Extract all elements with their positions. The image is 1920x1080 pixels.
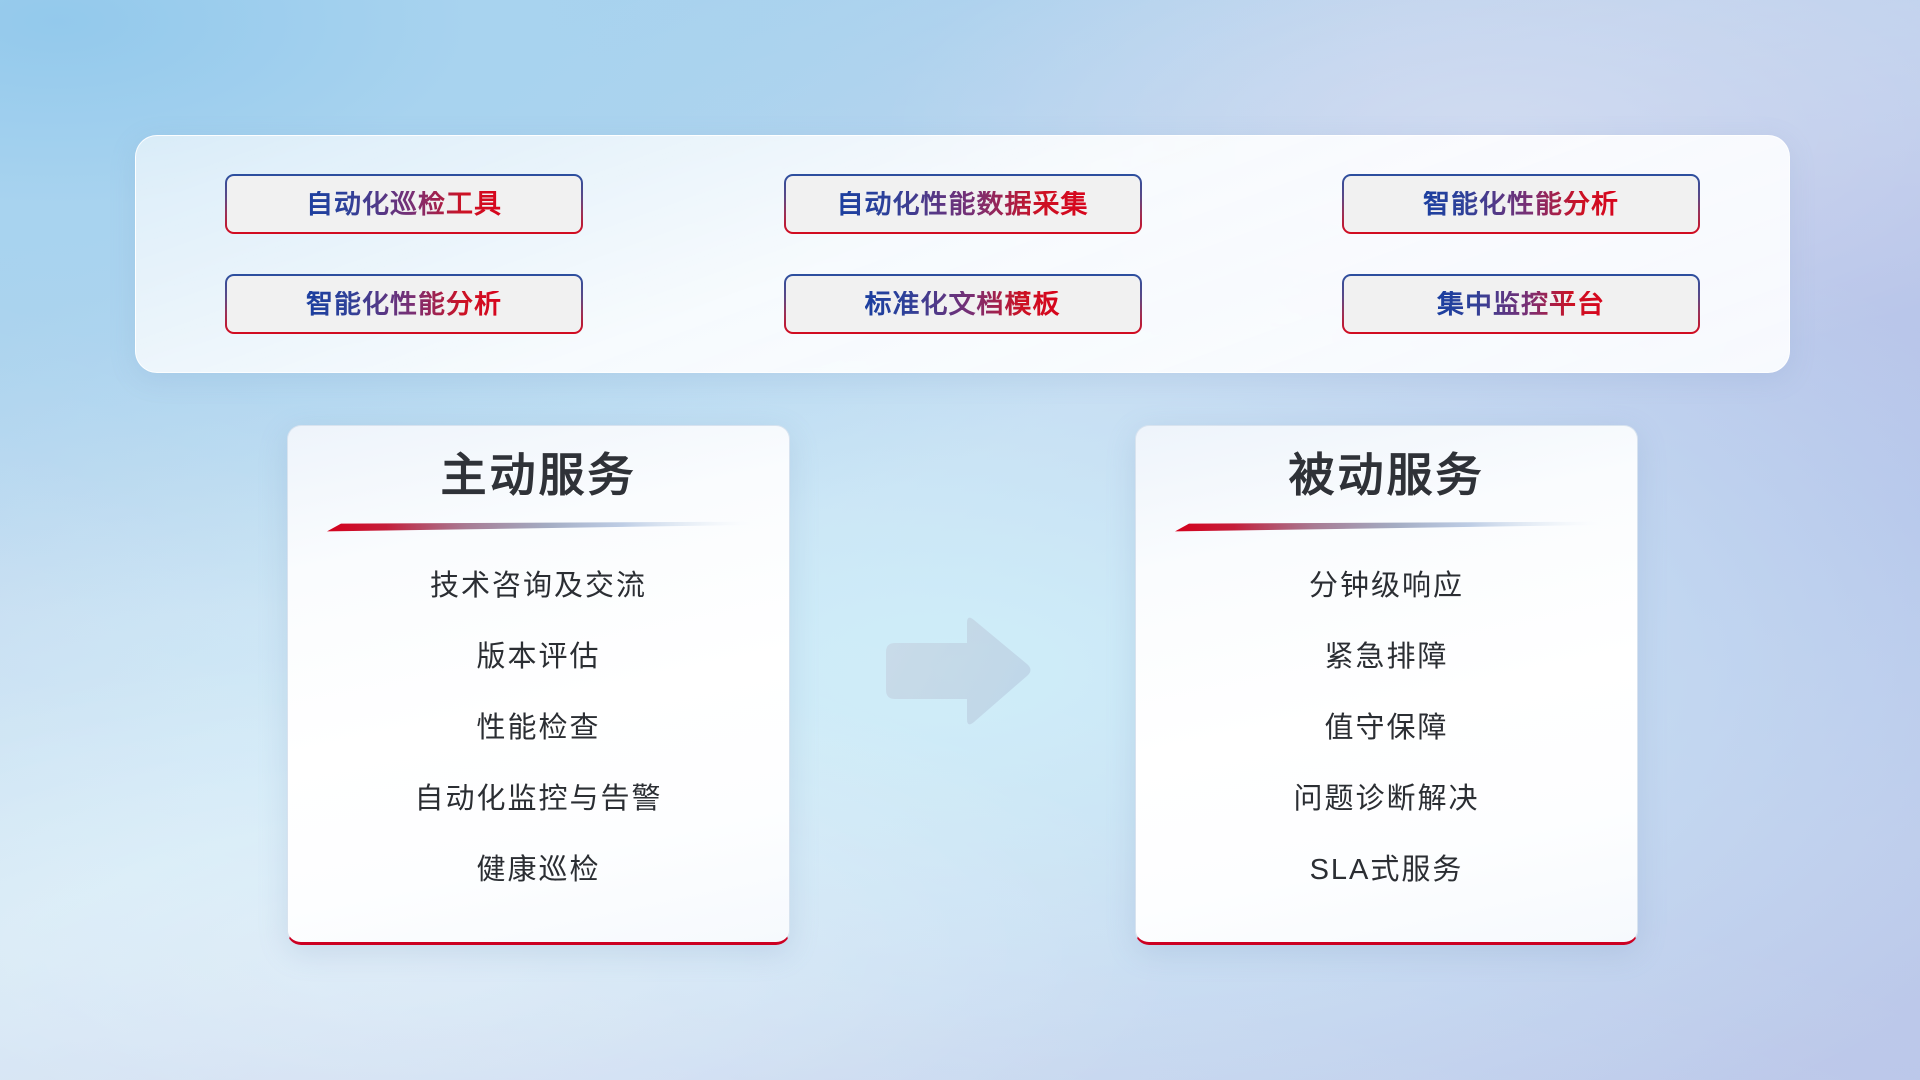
service-card-proactive[interactable]: 主动服务 技术咨询及交流 版本评估 性能检查 自动化监控与告警 健康巡检 <box>287 425 790 945</box>
capability-pill-4[interactable]: 智能化性能分析 <box>225 274 583 334</box>
service-item-list: 技术咨询及交流 版本评估 性能检查 自动化监控与告警 健康巡检 <box>288 551 789 906</box>
arrow-right-icon <box>876 612 1036 732</box>
capability-pill-label: 智能化性能分析 <box>1423 191 1619 218</box>
capability-pill-label: 集中监控平台 <box>1437 291 1605 318</box>
capability-pill-label: 自动化巡检工具 <box>306 191 502 218</box>
tapered-divider <box>1175 520 1598 534</box>
service-list-item: 技术咨询及交流 <box>430 551 647 622</box>
service-card-title: 主动服务 <box>441 449 637 502</box>
capability-pill-6[interactable]: 集中监控平台 <box>1342 274 1700 334</box>
service-list-item: 自动化监控与告警 <box>414 764 662 835</box>
service-list-item: 性能检查 <box>476 693 600 764</box>
capability-pill-3[interactable]: 智能化性能分析 <box>1342 174 1700 234</box>
service-item-list: 分钟级响应 紧急排障 值守保障 问题诊断解决 SLA式服务 <box>1136 551 1637 906</box>
capability-pill-grid: 自动化巡检工具 自动化性能数据采集 智能化性能分析 智能化性能分析 标准化文档模… <box>136 136 1789 372</box>
service-list-item: SLA式服务 <box>1310 835 1464 906</box>
tapered-divider <box>327 520 750 534</box>
service-list-item: 分钟级响应 <box>1309 551 1464 622</box>
capability-pill-1[interactable]: 自动化巡检工具 <box>225 174 583 234</box>
service-card-reactive[interactable]: 被动服务 分钟级响应 紧急排障 值守保障 问题诊断解决 SLA式服务 <box>1135 425 1638 945</box>
service-list-item: 值守保障 <box>1324 693 1448 764</box>
capability-pill-label: 自动化性能数据采集 <box>837 191 1089 218</box>
service-card-title: 被动服务 <box>1289 449 1485 502</box>
service-list-item: 紧急排障 <box>1324 622 1448 693</box>
capability-pill-label: 标准化文档模板 <box>865 291 1061 318</box>
service-list-item: 健康巡检 <box>476 835 600 906</box>
capabilities-panel: 自动化巡检工具 自动化性能数据采集 智能化性能分析 智能化性能分析 标准化文档模… <box>135 135 1790 373</box>
service-list-item: 问题诊断解决 <box>1293 764 1479 835</box>
capability-pill-label: 智能化性能分析 <box>306 291 502 318</box>
capability-pill-2[interactable]: 自动化性能数据采集 <box>784 174 1142 234</box>
capability-pill-5[interactable]: 标准化文档模板 <box>784 274 1142 334</box>
service-list-item: 版本评估 <box>476 622 600 693</box>
